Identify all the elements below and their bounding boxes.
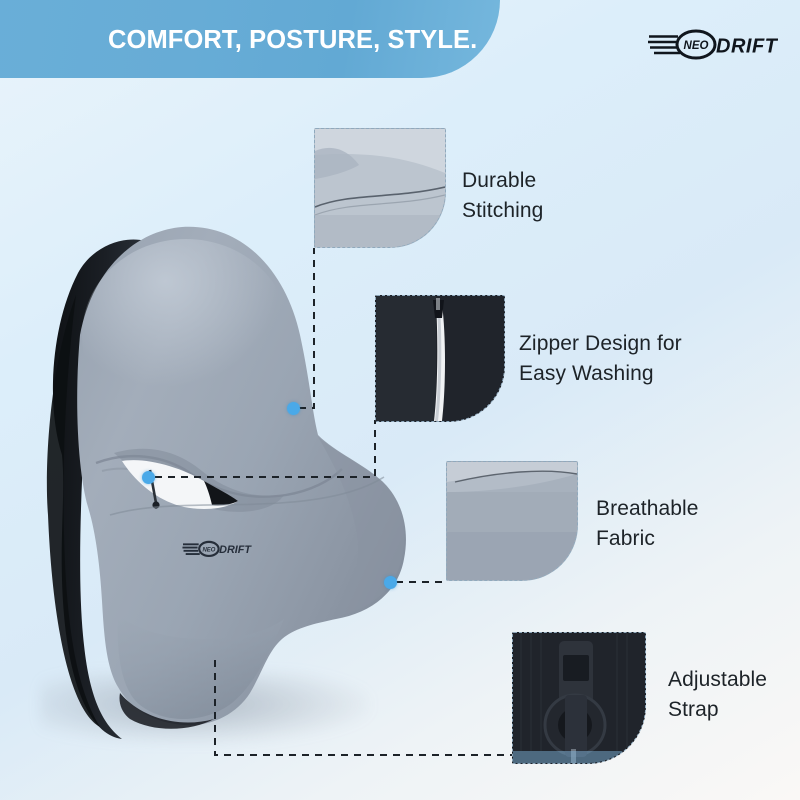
strap-closeup-thumbnail[interactable] [512,632,646,764]
cushion-highlight [82,239,290,431]
callout-label-adjustable-strap: Adjustable Strap [668,665,767,725]
page-title: COMFORT, POSTURE, STYLE. [108,26,477,55]
stitching-closeup-thumbnail[interactable] [314,128,446,248]
fabric-closeup-thumbnail[interactable] [446,461,578,581]
neodrift-logo-icon: NEO DRIFT [648,28,778,62]
product-image: NEO DRIFT [18,215,418,760]
callout-label-breathable-fabric: Breathable Fabric [596,494,699,554]
hotspot-zipper-design[interactable] [142,471,155,484]
fabric-closeup-image [447,462,577,580]
infographic-canvas: COMFORT, POSTURE, STYLE. NEO DRIFT [0,0,800,800]
svg-text:NEO: NEO [202,547,215,553]
hotspot-breathable-fabric[interactable] [384,576,397,589]
hotspot-durable-stitching[interactable] [287,402,300,415]
neodrift-logo: NEO DRIFT [648,28,778,62]
zipper-closeup-thumbnail[interactable] [375,295,505,422]
callout-label-durable-stitching: Durable Stitching [462,166,543,226]
logo-text-neo: NEO [684,40,709,52]
zipper-closeup-image [376,296,504,421]
logo-text-drift: DRIFT [716,36,778,58]
callout-label-zipper-design: Zipper Design for Easy Washing [519,329,682,389]
svg-text:DRIFT: DRIFT [219,544,252,556]
stitching-closeup-image [315,129,445,247]
strap-closeup-image [513,633,645,763]
back-support-cushion-illustration: NEO DRIFT [18,215,418,760]
